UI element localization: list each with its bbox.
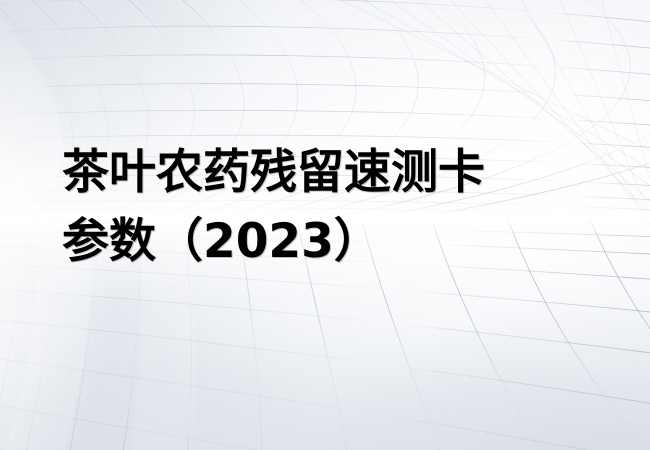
banner-title-line-2: 参数（2023） [62, 207, 602, 276]
banner-title: 茶叶农药残留速测卡 参数（2023） [62, 138, 602, 276]
banner-title-line-1: 茶叶农药残留速测卡 [62, 138, 602, 207]
banner-image: 茶叶农药残留速测卡 参数（2023） [0, 0, 650, 450]
